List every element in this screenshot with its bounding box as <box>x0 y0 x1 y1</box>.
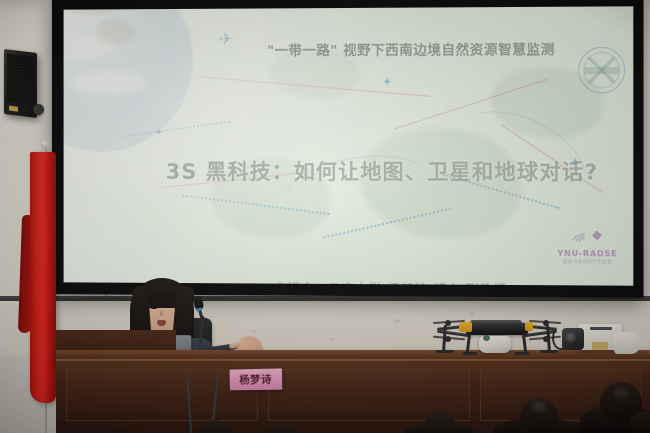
lab-logo-name: YNU-RADSE <box>556 249 619 258</box>
speaker-mount-bracket <box>33 104 44 115</box>
audience-head-highlight <box>614 388 628 398</box>
drone-camera-lens <box>483 335 490 341</box>
drone-landing-foot <box>436 350 454 353</box>
survey-drone <box>437 311 557 363</box>
satellite-icon: ✦ <box>154 126 164 138</box>
wall-scuff <box>330 338 334 341</box>
lab-logo-satellite <box>592 230 602 240</box>
instrument-label <box>592 342 608 350</box>
instrument-drum <box>614 332 640 354</box>
presenter-nose <box>160 311 163 316</box>
drone-motor <box>445 336 451 342</box>
lab-logo-subtitle: 遥感与地球科学实验室 <box>556 259 619 265</box>
drone-tail-marker <box>525 322 533 331</box>
instrument-lens-glass <box>565 332 578 345</box>
slide-header-text: "一带一路" 视野下西南边境自然资源智慧监测 <box>211 38 613 60</box>
drone-nose-marker <box>459 322 472 332</box>
slide-main-title: 3S 黑科技：如何让地图、卫星和地球对话? <box>122 156 633 187</box>
nameplate-text: 杨梦诗 <box>239 372 272 388</box>
speaker-nameplate: 杨梦诗 <box>230 368 283 390</box>
survey-instrument <box>560 322 640 364</box>
speaker-grill <box>7 53 34 105</box>
cpc-party-flag <box>30 152 56 403</box>
lab-logo: YNU-RADSE 遥感与地球科学实验室 <box>556 231 619 266</box>
audience-head <box>630 412 650 433</box>
presenter-mouth <box>157 320 166 326</box>
slide-speaker-line: 主讲人：云南大学 杨梦诗 博士 副教授 <box>221 277 562 285</box>
speaker-badge <box>9 106 18 112</box>
projection-screen-frame: ✈ ✦ ✦ ✦ "一带一路" 视野下西南边境自然资源智慧监测 3S 黑科技：如何… <box>52 0 644 298</box>
satellite-icon: ✦ <box>382 76 392 88</box>
wall-scuff <box>395 319 400 323</box>
drone-body-top <box>470 320 522 325</box>
seal-banner <box>584 67 619 74</box>
seal-cross <box>588 57 615 83</box>
lecture-hall-screenshot: ✈ ✦ ✦ ✦ "一带一路" 视野下西南边境自然资源智慧监测 3S 黑科技：如何… <box>0 0 650 433</box>
drone-landing-foot <box>515 352 529 355</box>
wall-scuff <box>252 330 256 333</box>
instrument-top-strip <box>590 327 612 330</box>
projection-screen-surface: ✈ ✦ ✦ ✦ "一带一路" 视野下西南边境自然资源智慧监测 3S 黑科技：如何… <box>64 6 634 285</box>
wall-speaker <box>4 49 37 118</box>
drone-landing-foot <box>463 352 477 355</box>
university-seal-icon <box>578 47 625 94</box>
flag-pole-finial <box>41 140 50 149</box>
drone-landing-foot <box>540 350 558 353</box>
lab-logo-mark <box>572 231 603 248</box>
audience-head-highlight <box>532 402 546 412</box>
